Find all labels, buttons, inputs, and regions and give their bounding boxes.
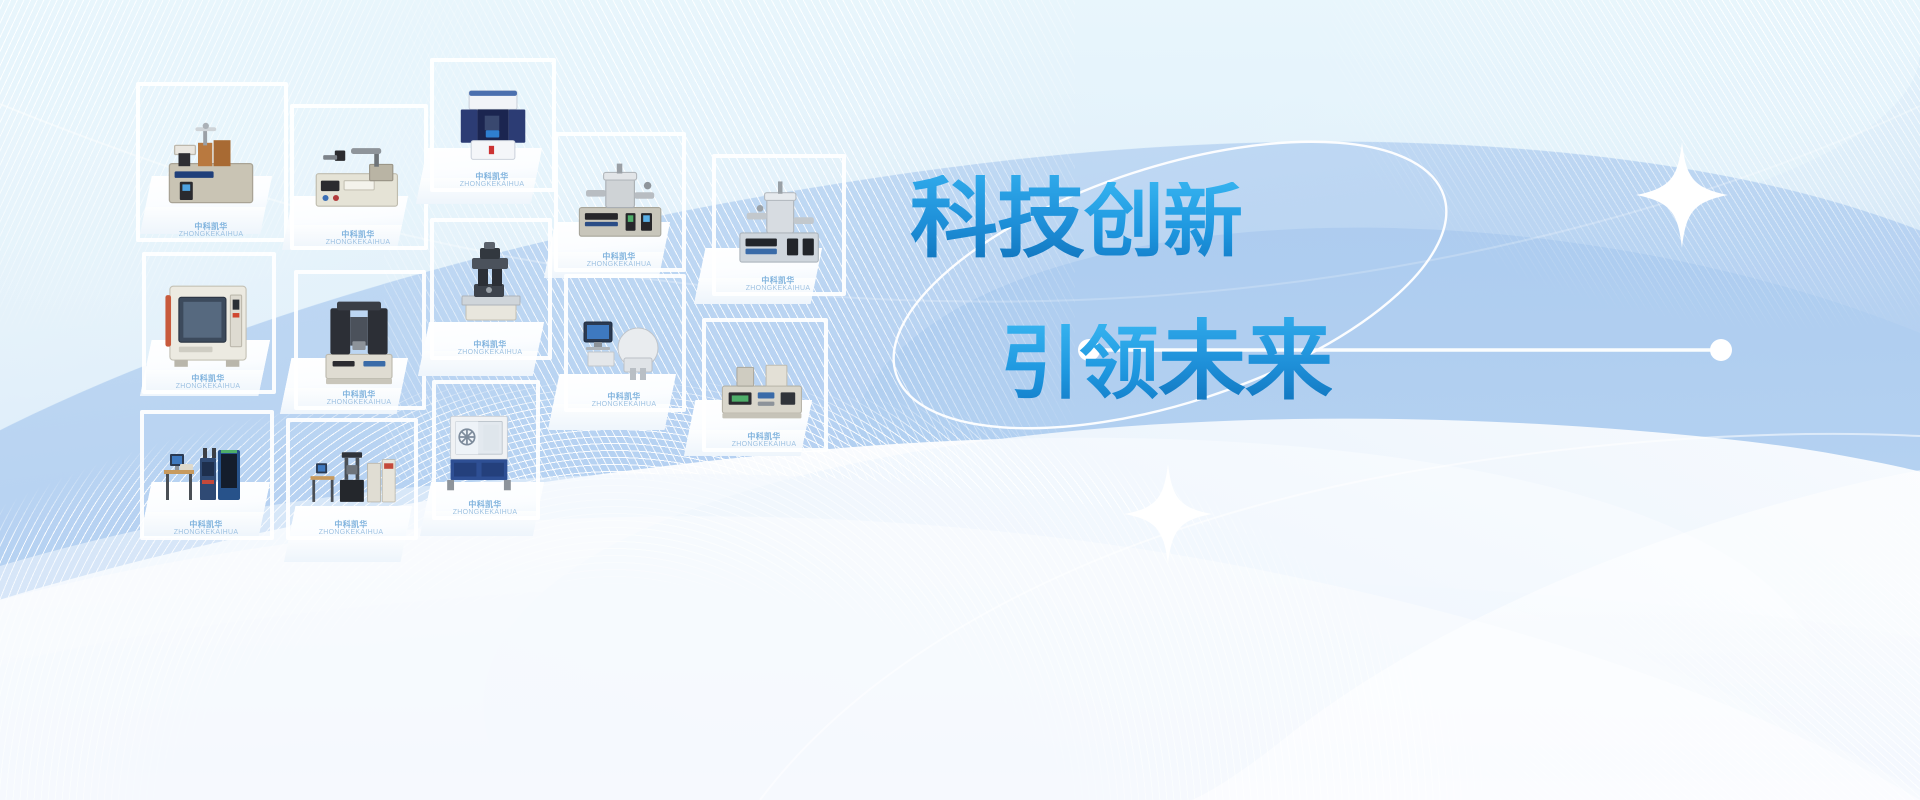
headline-line-2: 引领 未来 [1000,317,1332,405]
product-image[interactable] [152,266,264,378]
product-image[interactable] [304,284,414,394]
hero-banner: 中科凯华ZHONGKEKAIHUA 中科凯华ZHONGKEKAIHUA 中科凯华… [0,0,1920,800]
headline-line-1: 科技 创新 [910,175,1242,263]
product-image[interactable] [150,424,262,524]
product-image[interactable] [440,72,544,176]
product-image[interactable] [564,146,674,256]
product-image[interactable] [442,394,528,504]
product-image[interactable] [146,96,276,226]
product-image[interactable] [712,332,816,436]
product-image[interactable] [440,232,540,344]
product-image[interactable] [296,432,406,524]
headline-line2-light: 引领 [1000,324,1158,404]
headline-block: 科技 创新 引领 未来 [905,175,1465,435]
product-image[interactable] [574,288,674,396]
product-image[interactable] [722,168,834,280]
headline-line1-light: 创新 [1084,182,1242,262]
product-image[interactable] [300,118,416,234]
headline-line2-strong: 未来 [1158,317,1332,405]
headline-line1-strong: 科技 [910,175,1084,263]
